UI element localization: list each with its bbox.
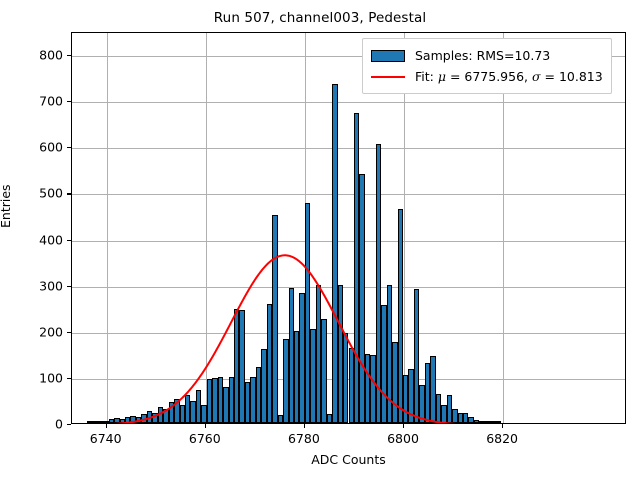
y-tick-label: 600	[0, 140, 63, 155]
x-tick-mark	[502, 424, 503, 428]
y-tick-label: 800	[0, 48, 63, 63]
y-tick-label: 500	[0, 186, 63, 201]
page-title: Run 507, channel003, Pedestal	[0, 10, 640, 26]
sigma-symbol: σ	[532, 69, 541, 84]
y-tick-label: 700	[0, 94, 63, 109]
figure-canvas: Run 507, channel003, Pedestal Entries AD…	[0, 0, 640, 480]
legend-item-fit: Fit: μ = 6775.956, σ = 10.813	[371, 66, 603, 87]
mu-symbol: μ	[438, 69, 446, 84]
y-tick-label: 400	[0, 232, 63, 247]
y-tick-label: 300	[0, 278, 63, 293]
x-tick-mark	[403, 424, 404, 428]
y-tick-label: 100	[0, 370, 63, 385]
fit-curve-path	[87, 255, 478, 423]
x-tick-label: 6760	[189, 431, 221, 446]
x-tick-mark	[304, 424, 305, 428]
x-tick-mark	[205, 424, 206, 428]
legend-label-fit: Fit: μ = 6775.956, σ = 10.813	[415, 69, 603, 84]
legend-item-samples: Samples: RMS=10.73	[371, 45, 603, 66]
chart-legend: Samples: RMS=10.73 Fit: μ = 6775.956, σ …	[362, 38, 612, 94]
y-tick-mark	[67, 424, 71, 425]
y-tick-label: 0	[0, 417, 63, 432]
legend-swatch-fit-icon	[371, 76, 405, 78]
y-tick-label: 200	[0, 324, 63, 339]
x-tick-label: 6780	[288, 431, 320, 446]
legend-label-samples: Samples: RMS=10.73	[415, 48, 550, 63]
x-tick-label: 6800	[387, 431, 419, 446]
x-axis-label: ADC Counts	[71, 452, 626, 467]
legend-swatch-samples-icon	[371, 50, 405, 62]
x-tick-mark	[106, 424, 107, 428]
x-tick-label: 6820	[486, 431, 518, 446]
x-tick-label: 6740	[90, 431, 122, 446]
